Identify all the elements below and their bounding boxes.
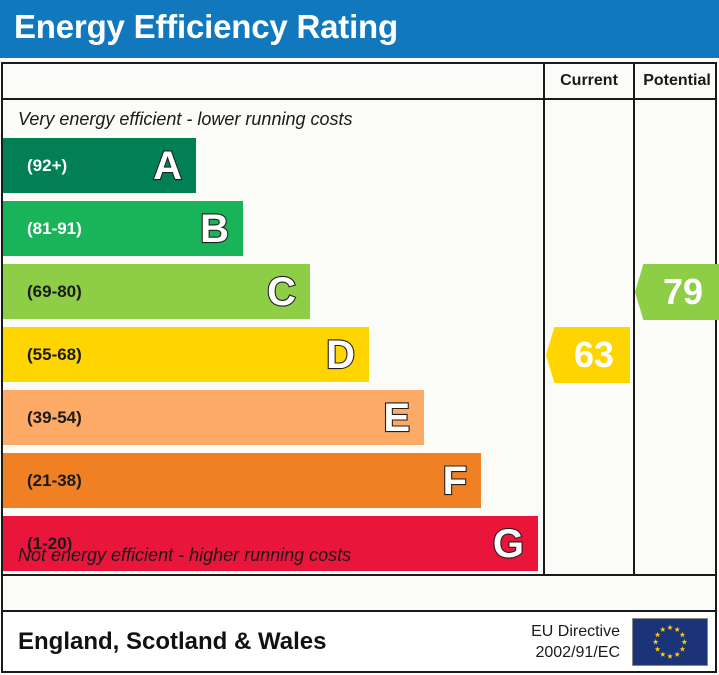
column-header-potential: Potential: [633, 64, 719, 98]
band-list: (92+)A(81-91)B(69-80)C(55-68)D(39-54)E(2…: [3, 138, 543, 538]
band-letter-a: A: [153, 146, 182, 186]
rating-band-f: (21-38)F: [3, 453, 481, 508]
caption-efficient: Very energy efficient - lower running co…: [3, 100, 543, 138]
page-title: Energy Efficiency Rating: [14, 8, 398, 46]
band-letter-c: C: [267, 272, 296, 312]
directive-line-1: EU Directive: [531, 620, 620, 641]
column-divider-potential: [633, 100, 635, 574]
rating-band-b: (81-91)B: [3, 201, 243, 256]
band-range-label: (81-91): [27, 219, 82, 239]
rating-table: Current Potential Very energy efficient …: [1, 62, 717, 612]
rating-arrow-potential: 79: [635, 264, 719, 320]
band-range-label: (39-54): [27, 408, 82, 428]
chart-footer: England, Scotland & Wales EU Directive 2…: [1, 612, 717, 673]
energy-efficiency-rating-chart: Energy Efficiency Rating Current Potenti…: [0, 0, 719, 675]
band-letter-b: B: [200, 209, 229, 249]
rating-value-potential: 79: [651, 274, 703, 310]
rating-value-current: 63: [562, 337, 614, 373]
band-range-label: (55-68): [27, 345, 82, 365]
band-range-label: (21-38): [27, 471, 82, 491]
table-bottom-rule: [3, 574, 715, 576]
eu-flag-icon: [632, 618, 708, 666]
caption-inefficient: Not energy efficient - higher running co…: [3, 536, 543, 574]
rating-band-e: (39-54)E: [3, 390, 424, 445]
band-letter-d: D: [326, 335, 355, 375]
column-header-row: Current Potential: [3, 64, 715, 100]
column-divider-current: [543, 100, 545, 574]
rating-arrow-current: 63: [546, 327, 630, 383]
band-letter-f: F: [443, 461, 467, 501]
footer-region-label: England, Scotland & Wales: [18, 628, 326, 656]
footer-directive: EU Directive 2002/91/EC: [531, 620, 620, 662]
rating-band-a: (92+)A: [3, 138, 196, 193]
band-range-label: (92+): [27, 156, 67, 176]
directive-line-2: 2002/91/EC: [531, 642, 620, 663]
chart-title-bar: Energy Efficiency Rating: [0, 0, 719, 58]
eu-flag-stars: [633, 619, 707, 665]
band-range-label: (69-80): [27, 282, 82, 302]
rating-band-c: (69-80)C: [3, 264, 310, 319]
rating-band-d: (55-68)D: [3, 327, 369, 382]
band-letter-e: E: [383, 398, 410, 438]
column-header-current: Current: [543, 64, 633, 98]
